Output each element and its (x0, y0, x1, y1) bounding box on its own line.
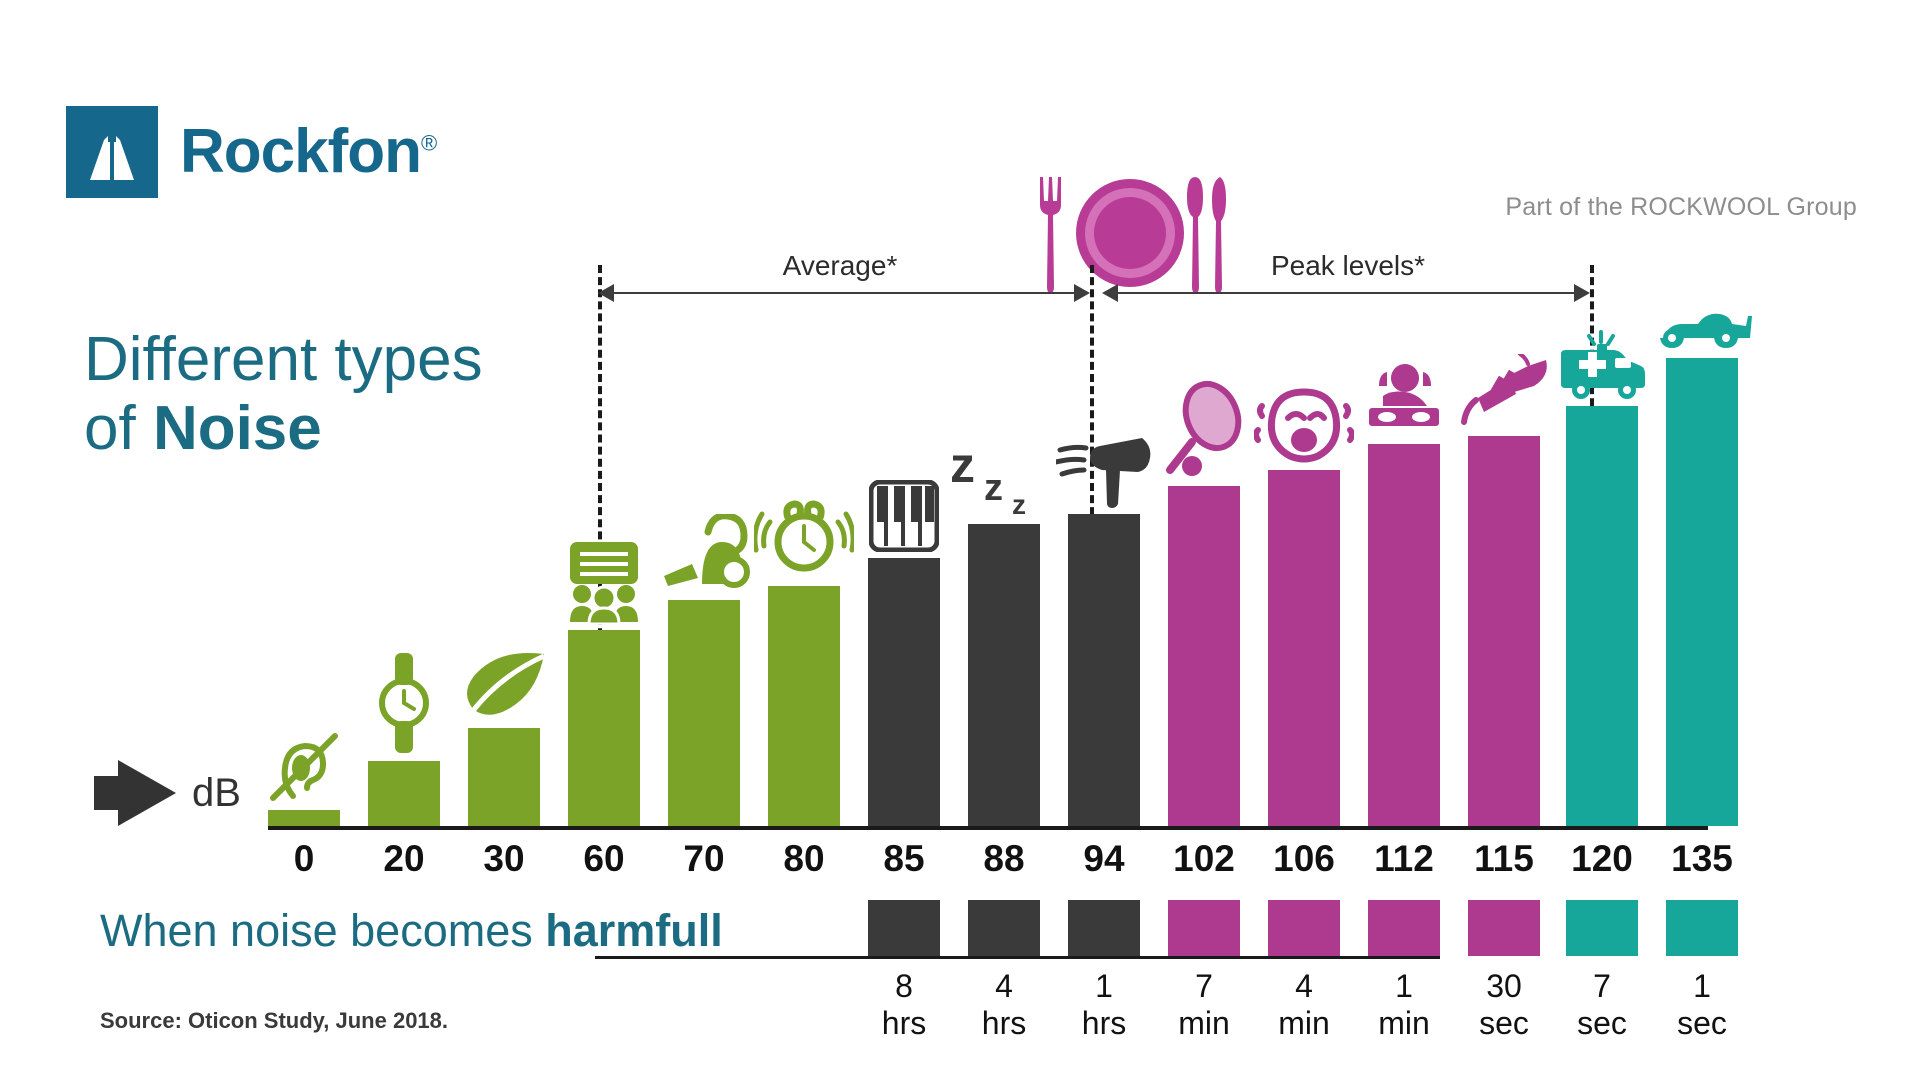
harmful-heading-light: When noise becomes (100, 905, 545, 956)
db-tick-85: 85 (883, 838, 924, 880)
wristwatch-icon (374, 651, 434, 755)
noise-bar-chart: Average* Peak levels* (268, 330, 1919, 830)
db-tick-135: 135 (1671, 838, 1733, 880)
peak-arrow-right-head (1574, 284, 1590, 302)
harmful-heading-bold: harmfull (545, 905, 723, 956)
bar-rect-106 (1268, 470, 1340, 826)
dinner-plate-icon (1030, 175, 1230, 295)
svg-text:z: z (950, 440, 975, 493)
duration-amount: 4 (1278, 968, 1330, 1005)
average-arrow-right-head (1074, 284, 1090, 302)
bar-column-94[interactable] (1068, 514, 1140, 826)
bar-rect-0 (268, 810, 340, 826)
duration-unit: hrs (882, 1005, 926, 1042)
bar-column-20[interactable] (368, 761, 440, 826)
duration-label-85: 8 hrs (882, 968, 926, 1042)
registered-mark: ® (421, 130, 436, 155)
average-arrow-line (610, 292, 1075, 294)
duration-amount: 1 (1082, 968, 1126, 1005)
duration-unit: sec (1577, 1005, 1627, 1042)
rockfon-logo[interactable]: Rockfon® (66, 106, 436, 198)
duration-amount: 7 (1577, 968, 1627, 1005)
duration-label-135: 1 sec (1677, 968, 1727, 1042)
duration-unit: min (1278, 1005, 1330, 1042)
db-axis-ticks: 0 20 30 60 70 80 85 88 94 102 106 112 11… (268, 838, 1919, 888)
duration-label-115: 30 sec (1479, 968, 1529, 1042)
duration-label-120: 7 sec (1577, 968, 1627, 1042)
speaker-cone (118, 760, 176, 826)
average-range-label: Average* (783, 250, 898, 282)
bar-rect-70 (668, 600, 740, 826)
bar-rect-102 (1168, 486, 1240, 826)
meeting-people-icon (564, 542, 644, 624)
db-tick-106: 106 (1273, 838, 1335, 880)
bar-rect-120 (1566, 406, 1638, 826)
db-tick-102: 102 (1173, 838, 1235, 880)
vacuum-cleaner-icon (658, 514, 750, 594)
rockwool-group-note: Part of the ROCKWOOL Group (1505, 193, 1857, 222)
duration-amount: 8 (882, 968, 926, 1005)
alarm-clock-icon (754, 488, 854, 580)
db-tick-30: 30 (483, 838, 524, 880)
bar-column-80[interactable] (768, 586, 840, 826)
bar-column-85[interactable] (868, 558, 940, 826)
bar-column-112[interactable] (1368, 444, 1440, 826)
duration-label-88: 4 hrs (982, 968, 1026, 1042)
db-tick-20: 20 (383, 838, 424, 880)
db-unit-label: dB (192, 771, 241, 816)
bar-column-106[interactable] (1268, 470, 1340, 826)
bar-column-30[interactable] (468, 728, 540, 826)
duration-label-106: 4 min (1278, 968, 1330, 1042)
db-tick-120: 120 (1571, 838, 1633, 880)
exposure-duration-labels: 8 hrs 4 hrs 1 hrs 7 min 4 min 1 min 30 s… (268, 968, 1919, 1048)
bar-rect-30 (468, 728, 540, 826)
logo-word-text: Rockfon (180, 117, 421, 186)
duration-bar-85[interactable] (868, 900, 940, 956)
average-arrow-left-head (598, 284, 614, 302)
duration-bar-112[interactable] (1368, 900, 1440, 956)
db-axis-label-group: dB (94, 760, 241, 826)
peak-arrow-left-head (1102, 284, 1118, 302)
duration-bar-115[interactable] (1468, 900, 1540, 956)
bar-rect-135 (1666, 358, 1738, 826)
duration-bar-88[interactable] (968, 900, 1040, 956)
duration-bar-120[interactable] (1566, 900, 1638, 956)
duration-amount: 30 (1479, 968, 1529, 1005)
bar-column-88[interactable]: z z z (968, 524, 1040, 826)
bar-column-70[interactable] (668, 600, 740, 826)
bar-rect-112 (1368, 444, 1440, 826)
harmful-heading: When noise becomes harmfull (100, 905, 723, 957)
bar-column-115[interactable] (1468, 436, 1540, 826)
db-tick-80: 80 (783, 838, 824, 880)
bar-rect-20 (368, 761, 440, 826)
svg-text:z: z (1012, 489, 1026, 518)
source-note: Source: Oticon Study, June 2018. (100, 1008, 448, 1034)
rockfon-arch-logo-icon (66, 106, 158, 198)
bar-column-60[interactable] (568, 630, 640, 826)
ambulance-icon (1557, 328, 1647, 400)
title-of: of (84, 394, 153, 463)
hearing-loss-ear-icon (265, 724, 343, 804)
piano-keys-icon (869, 480, 939, 552)
duration-unit: min (1378, 1005, 1430, 1042)
duration-amount: 4 (982, 968, 1026, 1005)
duration-unit: min (1178, 1005, 1230, 1042)
crying-baby-icon (1254, 386, 1354, 464)
duration-label-94: 1 hrs (1082, 968, 1126, 1042)
bar-column-102[interactable] (1168, 486, 1240, 826)
bar-rect-85 (868, 558, 940, 826)
duration-unit: sec (1479, 1005, 1529, 1042)
bar-rect-88 (968, 524, 1040, 826)
duration-unit: hrs (1082, 1005, 1126, 1042)
db-tick-60: 60 (583, 838, 624, 880)
duration-bar-102[interactable] (1168, 900, 1240, 956)
race-car-icon (1650, 304, 1754, 352)
bar-column-120[interactable] (1566, 406, 1638, 826)
dj-turntable-icon (1361, 362, 1447, 438)
leaf-icon (458, 650, 550, 722)
duration-amount: 1 (1677, 968, 1727, 1005)
peak-range-label: Peak levels* (1271, 250, 1425, 282)
db-tick-88: 88 (983, 838, 1024, 880)
db-tick-94: 94 (1083, 838, 1124, 880)
duration-amount: 1 (1378, 968, 1430, 1005)
duration-unit: sec (1677, 1005, 1727, 1042)
bar-column-0[interactable] (268, 810, 340, 826)
bar-rect-60 (568, 630, 640, 826)
duration-label-112: 1 min (1378, 968, 1430, 1042)
db-tick-70: 70 (683, 838, 724, 880)
svg-text:z: z (984, 467, 1003, 509)
duration-bar-94[interactable] (1068, 900, 1140, 956)
chart-baseline (268, 826, 1708, 830)
db-tick-115: 115 (1474, 838, 1534, 880)
tennis-racket-icon (1162, 380, 1246, 480)
db-tick-0: 0 (294, 838, 315, 880)
bar-column-135[interactable] (1666, 358, 1738, 826)
duration-bar-106[interactable] (1268, 900, 1340, 956)
snoring-zzz-icon: z z z (948, 440, 1060, 518)
bar-rect-80 (768, 586, 840, 826)
db-tick-112: 112 (1374, 838, 1434, 880)
duration-unit: hrs (982, 1005, 1026, 1042)
speaker-icon (94, 760, 180, 826)
bar-rect-115 (1468, 436, 1540, 826)
duration-bar-135[interactable] (1666, 900, 1738, 956)
duration-amount: 7 (1178, 968, 1230, 1005)
hair-dryer-icon (1056, 436, 1152, 508)
bar-rect-94 (1068, 514, 1140, 826)
trumpet-icon (1458, 354, 1550, 430)
duration-label-102: 7 min (1178, 968, 1230, 1042)
logo-wordmark: Rockfon® (180, 121, 436, 183)
peak-arrow-line (1114, 292, 1580, 294)
